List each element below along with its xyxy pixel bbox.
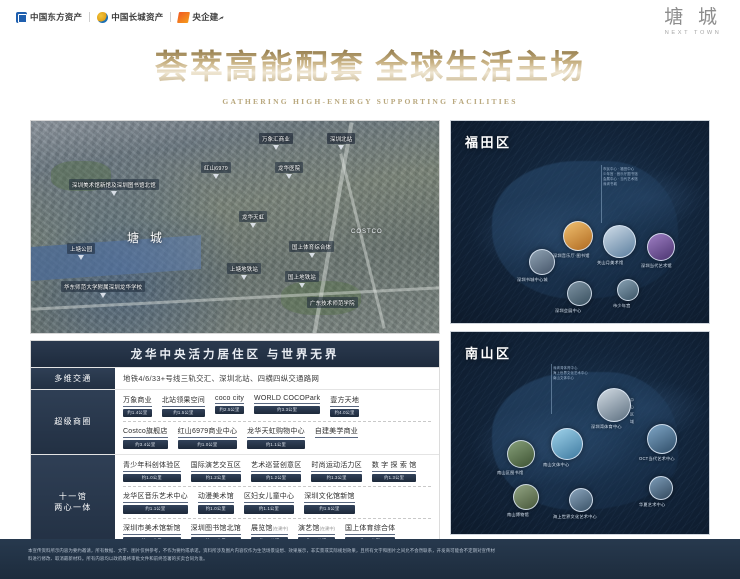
logo-great-wall-label: 中国长城资产 [111, 11, 163, 23]
facility-chip: 时尚运动活力区 约1.3公里 [311, 460, 361, 482]
landmark-caption: 南山博物馆 [507, 512, 529, 518]
right-column: 福田区 市民中心 · 福田中心 少年宫 · 音乐厅图书馆 会展中心 · 当代艺术… [450, 120, 710, 535]
jianye-logo-icon [177, 12, 190, 23]
landmark-bubble [513, 484, 539, 510]
district-panel-futian: 福田区 市民中心 · 福田中心 少年宫 · 音乐厅图书馆 会展中心 · 当代艺术… [450, 120, 710, 324]
facility-distance: 约1.1公里 [123, 505, 188, 513]
landmark-bubble [569, 488, 593, 512]
landmark-caption: 深圳会展中心 [555, 308, 581, 314]
chip-line: 龙华区音乐艺术中心 约1.1公里 动漫美术馆 约1.0公里 区妇女儿童中心 约1… [123, 486, 431, 513]
map-pin: 上塘公园 [67, 243, 95, 254]
facility-chip: coco city 约2.5公里 [215, 395, 244, 417]
district-title: 南山区 [465, 343, 512, 362]
map-pin: 深圳北站 [327, 133, 355, 144]
map-pin: 上塘地铁站 [227, 263, 261, 274]
facility-name: 数 字 探 索 馆 [372, 460, 417, 472]
map-pin: 深圳美术馆新馆及深圳图书馆北馆 [69, 179, 159, 190]
chip-line: 万象商业 约1.4公里 北站领果空间 约1.5公里 coco city 约2.5… [123, 395, 431, 417]
facility-chip: 红山6979商业中心 约1.0公里 [178, 426, 238, 448]
facility-name: 深圳市美术馆新馆 [123, 523, 181, 535]
estate-name-label: 塘 城 [127, 229, 166, 246]
landmark-caption: 海上世界文化艺术中心 [553, 514, 597, 520]
map-pin: 红山6979 [201, 162, 231, 173]
greatwall-logo-icon [97, 12, 108, 23]
logo-jianye-label: 央企建ރ [192, 11, 223, 23]
district-note: 市民中心 · 福田中心 少年宫 · 音乐厅图书馆 会展中心 · 当代艺术馆 深圳… [603, 167, 638, 187]
landmark-caption: 市少年宫 [613, 303, 631, 309]
landmark-bubble [563, 221, 593, 251]
landmark-caption: 深圳音乐厅·图书馆 [553, 253, 590, 259]
facility-distance: 约1.1公里 [244, 505, 294, 513]
facility-distance: 约1.2公里 [191, 474, 241, 482]
facility-chip: 艺术巡营创意区 约1.2公里 [251, 460, 301, 482]
facility-distance: 约1.0公里 [178, 440, 238, 448]
disclaimer-line-2: 料进行修改、取消最新材料。所有内容均以政府最终审批文件和前终签署的买卖合同为准。 [28, 555, 712, 563]
legal-disclaimer: 本宣传资料所示内容为要约邀请，所有数据、文字、图片仅供参考，不作为要约或承诺。资… [0, 539, 740, 579]
facility-name: 壹方天地 [330, 395, 359, 407]
facility-chip: 北站领果空间 约1.5公里 [162, 395, 205, 417]
landmark-bubble [507, 440, 535, 468]
row-label-venues: 十一馆 两心一体 [31, 455, 115, 550]
landmark-caption: 深圳书城中心城 [517, 277, 548, 283]
page-title-block: 荟萃高能配套 全球生活主场 GATHERING HIGH-ENERGY SUPP… [0, 48, 740, 106]
facility-chip: WORLD COCOPark 约3.3公里 [254, 395, 320, 417]
row-label-transport: 多维交通 [31, 368, 115, 389]
facility-name: coco city [215, 395, 244, 404]
facility-distance: 约1.3公里 [372, 474, 417, 482]
leader-line [551, 364, 552, 414]
row-content: 青少年科创体验区 约1.0公里 国际演艺交互区 约1.2公里 艺术巡营创意区 约… [115, 455, 439, 550]
logo-china-orient: 中国东方资产 [16, 11, 82, 23]
map-pin: 广东技术师范学院 [307, 297, 358, 308]
page-title: 荟萃高能配套 全球生活主场 [0, 48, 740, 89]
landmark-bubble [529, 249, 555, 275]
district-title: 福田区 [465, 132, 512, 151]
logo-great-wall: 中国长城资产 [97, 11, 163, 23]
leader-line [601, 165, 602, 223]
facility-distance: 约1.3公里 [311, 474, 361, 482]
map-pin: 万象汇商业 [259, 133, 293, 144]
logo-china-orient-label: 中国东方资产 [30, 11, 82, 23]
facility-distance: 约1.2公里 [251, 474, 301, 482]
facility-chip: 龙华天虹购物中心 约1.1公里 [247, 426, 305, 448]
row-content: 地铁4/6/33+号线三轨交汇、深圳北站、四横四纵交通路网 [115, 368, 439, 389]
facility-name: 演艺馆(在建中) [298, 523, 335, 535]
table-row: 十一馆 两心一体 青少年科创体验区 约1.0公里 国际演艺交互区 约1.2公里 [31, 454, 439, 550]
top-bar: 中国东方资产 中国长城资产 央企建ރ 塘 城 NEXT TOWN [0, 0, 740, 42]
facility-chip: 壹方天地 约4.0公里 [330, 395, 359, 417]
facility-name: 展览馆(在建中) [251, 523, 288, 535]
left-column: 塘 城 COSTCO 万象汇商业 深圳北站 红山6979 龙华医院 深圳美术馆新… [30, 120, 440, 579]
facility-chip: 动漫美术馆 约1.0公里 [198, 491, 234, 513]
facility-note: (在建中) [273, 526, 288, 531]
chip-line: Costco旗舰店 约3.4公里 红山6979商业中心 约1.0公里 龙华天虹购… [123, 421, 431, 448]
district-panel-nanshan: 南山区 深圳湾体育中心 海上世界文化艺术中心 南山文体中心 中 心 区 域 南山… [450, 331, 710, 535]
facility-name: 深圳文化馆新馆 [304, 491, 354, 503]
row-label-text: 多维交通 [54, 373, 92, 385]
facility-chip: 深圳文化馆新馆 约1.5公里 [304, 491, 354, 513]
facility-distance: 约1.4公里 [123, 409, 152, 417]
facility-name: 青少年科创体验区 [123, 460, 181, 472]
district-note: 深圳湾体育中心 海上世界文化艺术中心 南山文体中心 [553, 366, 588, 381]
landmark-caption: 深圳当代艺术馆 [641, 263, 672, 269]
landmark-caption: 南山区图书馆 [497, 470, 523, 476]
facility-distance: 约1.0公里 [198, 505, 234, 513]
transport-text: 地铁4/6/33+号线三轨交汇、深圳北站、四横四纵交通路网 [123, 373, 431, 384]
map-pin: 国上体育综合体 [289, 241, 334, 252]
row-label-commerce: 超级商圈 [31, 390, 115, 454]
facility-chip: 青少年科创体验区 约1.0公里 [123, 460, 181, 482]
landmark-caption: 关山月美术馆 [597, 260, 623, 266]
page-subtitle: GATHERING HIGH-ENERGY SUPPORTING FACILIT… [0, 97, 740, 106]
row-content: 万象商业 约1.4公里 北站领果空间 约1.5公里 coco city 约2.5… [115, 390, 439, 454]
facility-distance: 约1.0公里 [123, 474, 181, 482]
landmark-bubble [597, 388, 631, 422]
developer-logos: 中国东方资产 中国长城资产 央企建ރ [16, 11, 224, 23]
map-pin: 华东师范大学附属深圳龙华学校 [61, 281, 145, 292]
landmark-bubble [647, 233, 675, 261]
landmark-bubble [617, 279, 639, 301]
facility-name: 北站领果空间 [162, 395, 205, 407]
facility-distance: 约4.0公里 [330, 409, 359, 417]
map-pin: 国上地铁站 [285, 271, 319, 282]
facility-name: Costco旗舰店 [123, 426, 168, 438]
landmark-caption: 南山文体中心 [543, 462, 569, 468]
landmark-bubble [603, 225, 636, 258]
table-row: 多维交通 地铁4/6/33+号线三轨交汇、深圳北站、四横四纵交通路网 [31, 367, 439, 389]
facility-name: 国际演艺交互区 [191, 460, 241, 472]
facility-chip: 龙华区音乐艺术中心 约1.1公里 [123, 491, 188, 513]
facility-name: 龙华区音乐艺术中心 [123, 491, 188, 503]
project-brand: 塘 城 NEXT TOWN [664, 8, 722, 36]
row-label-text-line1: 十一馆 [59, 491, 87, 503]
facility-distance: 约3.3公里 [254, 406, 320, 414]
facility-note: (在建中) [320, 526, 335, 531]
map-pin: 龙华医院 [275, 162, 303, 173]
facility-distance: 约1.5公里 [304, 505, 354, 513]
landmark-bubble [567, 281, 592, 306]
landmark-bubble [551, 428, 583, 460]
facility-name: 红山6979商业中心 [178, 426, 238, 438]
row-label-text: 超级商圈 [54, 416, 92, 428]
facility-name: 自建美学商业 [315, 426, 358, 438]
facility-name: 龙华天虹购物中心 [247, 426, 305, 438]
oriental-logo-icon [16, 12, 27, 23]
facility-name: WORLD COCOPark [254, 395, 320, 404]
logo-divider [89, 12, 90, 22]
landmark-caption: OCT当代艺术中心 [639, 456, 675, 462]
facility-chip: 数 字 探 索 馆 约1.3公里 [372, 460, 417, 482]
facility-distance: 约2.5公里 [215, 406, 244, 414]
facility-chip: 区妇女儿童中心 约1.1公里 [244, 491, 294, 513]
disclaimer-line-1: 本宣传资料所示内容为要约邀请，所有数据、文字、图片仅供参考，不作为要约或承诺。资… [28, 547, 712, 555]
facility-chip: 国际演艺交互区 约1.2公里 [191, 460, 241, 482]
table-header: 龙华中央活力居住区 与世界无界 [31, 341, 439, 367]
logo-jianye: 央企建ރ [178, 11, 223, 23]
chip-line: 青少年科创体验区 约1.0公里 国际演艺交互区 约1.2公里 艺术巡营创意区 约… [123, 460, 431, 482]
logo-divider-2 [170, 12, 171, 22]
facility-distance: 约3.4公里 [123, 440, 168, 448]
facility-name: 万象商业 [123, 395, 152, 407]
brand-name-cn: 塘 城 [664, 8, 722, 28]
aerial-map-photo: 塘 城 COSTCO 万象汇商业 深圳北站 红山6979 龙华医院 深圳美术馆新… [30, 120, 440, 334]
facility-name: 艺术巡营创意区 [251, 460, 301, 472]
brand-name-en: NEXT TOWN [664, 30, 722, 36]
facility-name: 动漫美术馆 [198, 491, 234, 503]
facility-chip: 万象商业 约1.4公里 [123, 395, 152, 417]
row-label-text-line2: 两心一体 [54, 502, 92, 514]
facility-name: 国上体育综合体 [345, 523, 395, 535]
facility-name: 深圳图书馆北馆 [191, 523, 241, 535]
facility-name: 时尚运动活力区 [311, 460, 361, 472]
poster-root: 中国东方资产 中国长城资产 央企建ރ 塘 城 NEXT TOWN 荟萃高能配套 … [0, 0, 740, 579]
facility-name: 区妇女儿童中心 [244, 491, 294, 503]
table-row: 超级商圈 万象商业 约1.4公里 北站领果空间 约1.5公里 [31, 389, 439, 454]
landmark-bubble [649, 476, 673, 500]
facility-distance: 约1.1公里 [247, 440, 305, 448]
landmark-caption: 华夏艺术中心 [639, 502, 665, 508]
main-content: 塘 城 COSTCO 万象汇商业 深圳北站 红山6979 龙华医院 深圳美术馆新… [30, 120, 710, 535]
landmark-bubble [647, 424, 677, 454]
facility-distance: 约1.5公里 [162, 409, 205, 417]
facility-chip: Costco旗舰店 约3.4公里 [123, 426, 168, 448]
map-pin: 龙华天虹 [239, 211, 267, 222]
landmark-caption: 深圳湾体育中心 [591, 424, 622, 430]
facility-chip: 自建美学商业 [315, 426, 358, 448]
costco-label: COSTCO [351, 229, 383, 235]
